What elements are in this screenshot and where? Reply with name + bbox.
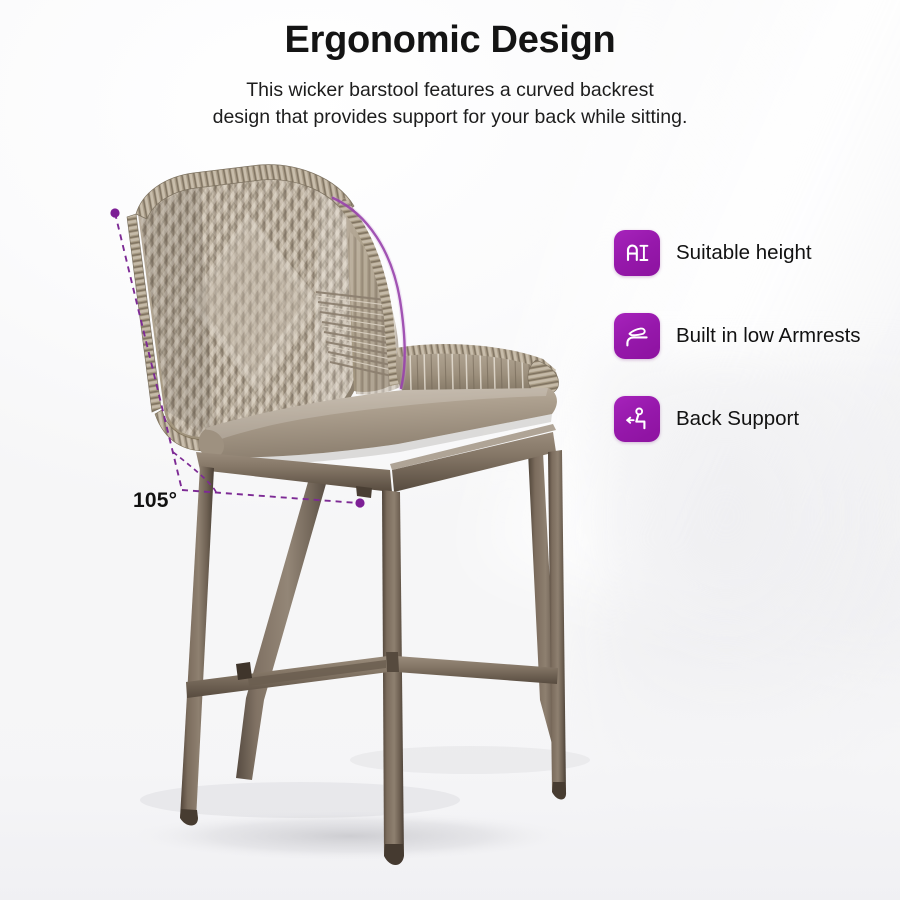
- angle-vertex-dot-top: [110, 208, 119, 217]
- armrest-icon: [614, 313, 660, 359]
- product-illustration-barstool: [0, 0, 900, 900]
- barstool-backrest: [120, 150, 420, 460]
- feature-item-low-armrests[interactable]: Built in low Armrests: [614, 313, 861, 359]
- barstool-seat-cushion: [198, 388, 557, 465]
- barstool-legs: [180, 450, 566, 865]
- page-title: Ergonomic Design: [0, 18, 900, 63]
- angle-vertex-dot-right: [355, 498, 364, 507]
- angle-leg-upper: [115, 213, 182, 490]
- angle-arc: [173, 452, 216, 492]
- page-subtitle: This wicker barstool features a curved b…: [0, 77, 900, 131]
- header-block: Ergonomic Design This wicker barstool fe…: [0, 18, 900, 131]
- backrest-spoke-fan: [316, 292, 396, 377]
- feature-label-suitable-height: Suitable height: [676, 243, 812, 264]
- barstool-seat-frame: [196, 424, 556, 498]
- angle-leg-lower: [182, 490, 358, 503]
- barstool-low-armrest: [396, 344, 559, 394]
- feature-label-low-armrests: Built in low Armrests: [676, 326, 861, 347]
- height-measure-icon: [614, 230, 660, 276]
- seated-person-back-support-icon: [614, 396, 660, 442]
- angle-annotation-overlay: [0, 0, 900, 900]
- subtitle-line-1: This wicker barstool features a curved b…: [0, 77, 900, 104]
- feature-item-suitable-height[interactable]: Suitable height: [614, 230, 861, 276]
- subtitle-line-2: design that provides support for your ba…: [0, 104, 900, 131]
- feature-list: Suitable height Built in low Armrests: [614, 230, 861, 442]
- infographic-canvas: Ergonomic Design This wicker barstool fe…: [0, 0, 900, 900]
- barstool-rear-legs: [236, 452, 560, 780]
- floor-shadow: [120, 810, 580, 862]
- feature-label-back-support: Back Support: [676, 409, 799, 430]
- background-floor-gradient: [0, 650, 900, 900]
- feature-item-back-support[interactable]: Back Support: [614, 396, 861, 442]
- angle-value-label: 105°: [133, 489, 177, 513]
- backrest-contour-curve: [333, 198, 405, 388]
